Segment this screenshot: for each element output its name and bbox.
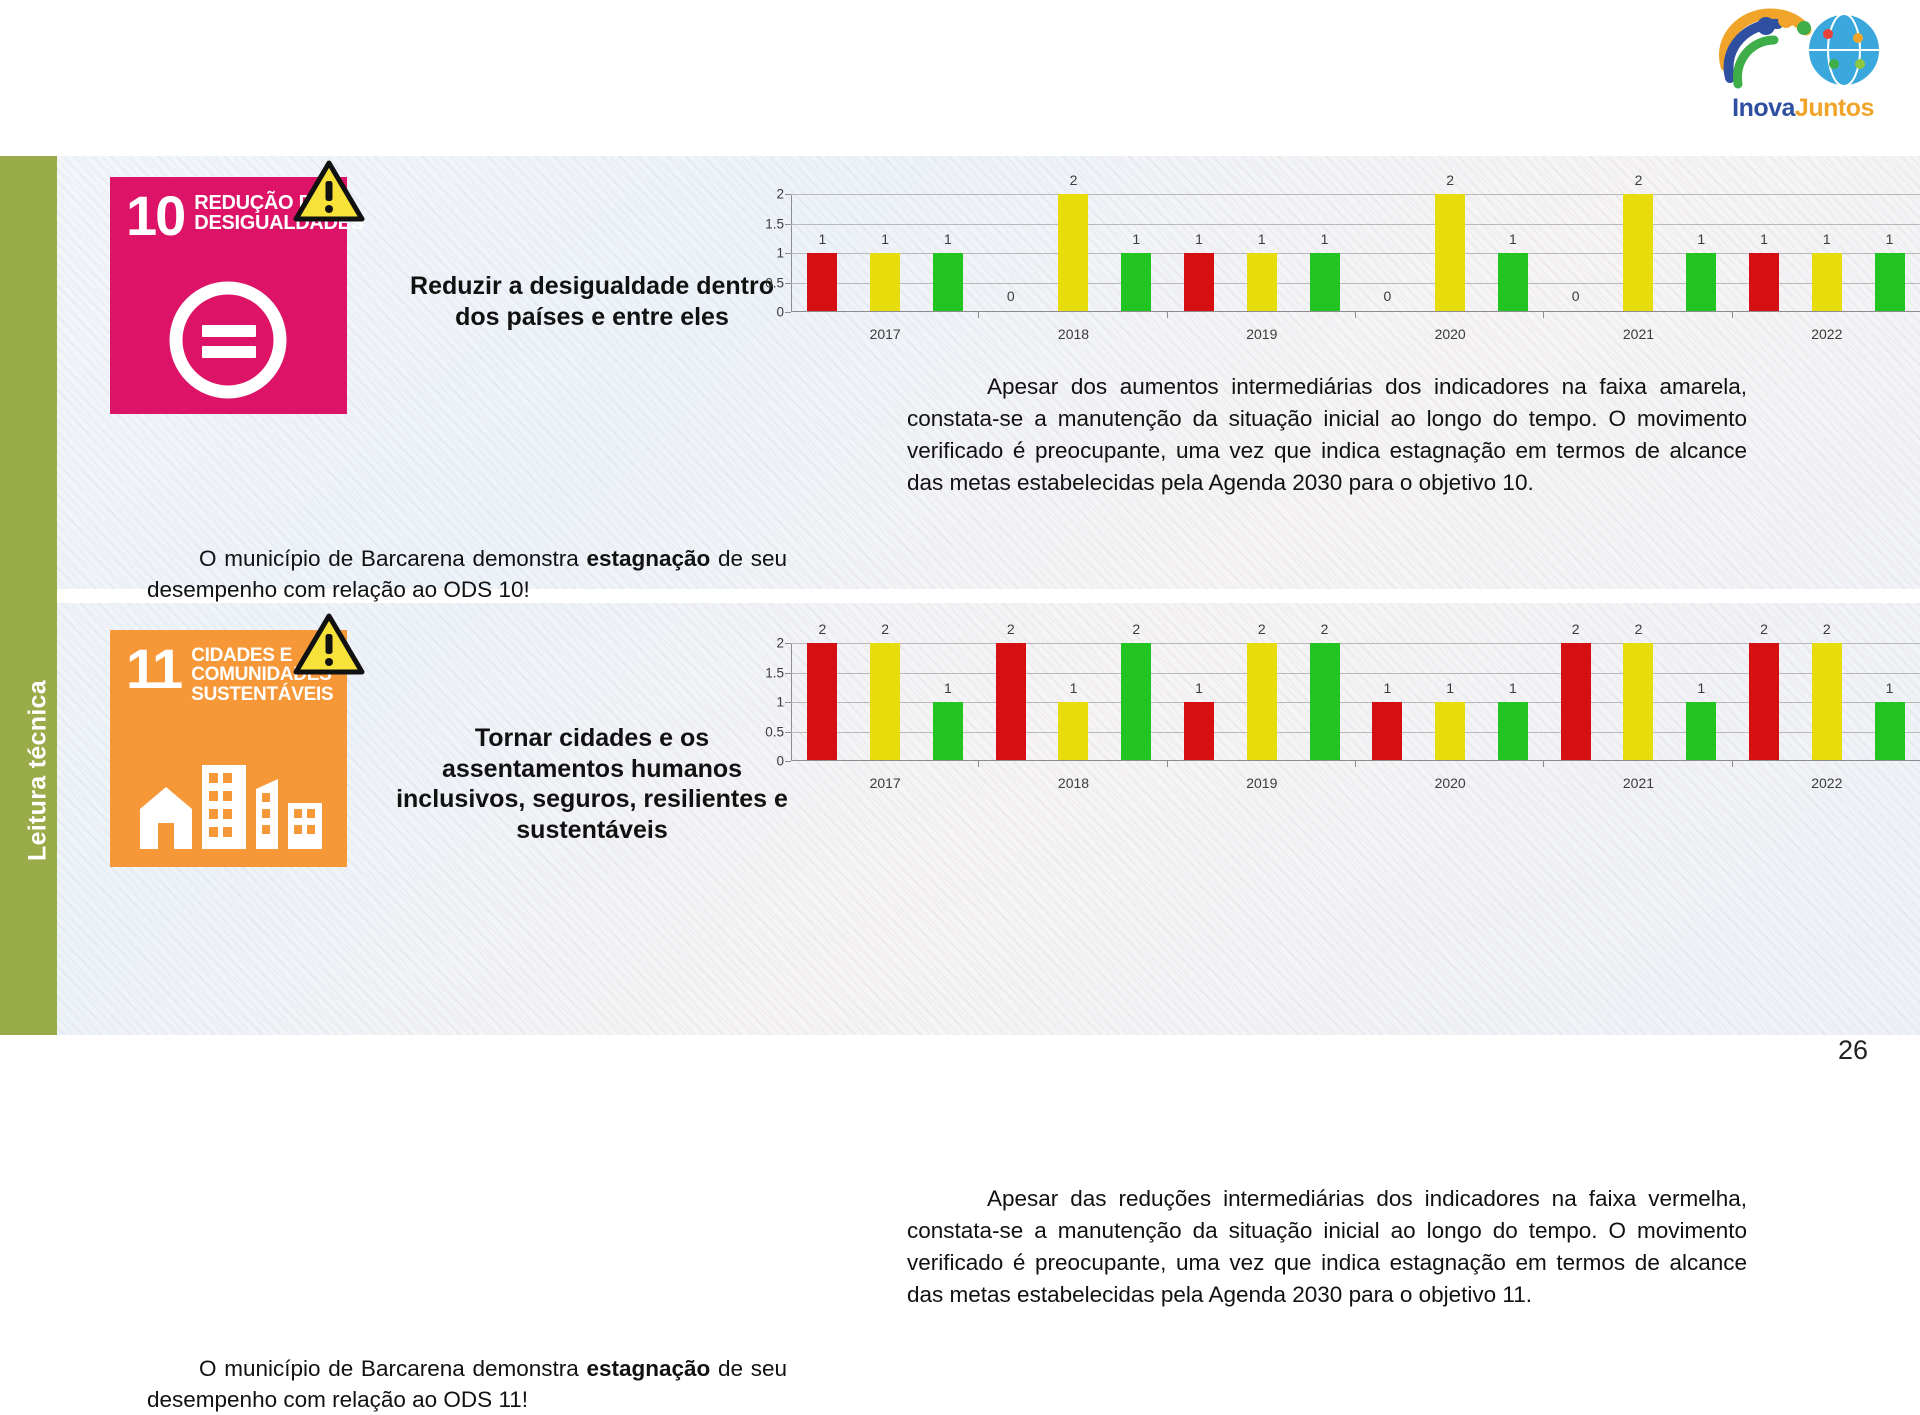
x-axis-tick-label: 2018 (979, 326, 1167, 342)
x-axis-tick-label: 2020 (1356, 775, 1544, 791)
chart-group: 021 (1356, 194, 1544, 312)
chart-bar-value-label: 2 (818, 621, 826, 637)
chart-bar-slot: 1 (1670, 194, 1733, 312)
chart-bar: 2 (1812, 643, 1842, 761)
logo-mark-icon (1708, 4, 1898, 104)
x-axis-group-tick (1732, 312, 1733, 318)
chart-bar-slot: 1 (1293, 194, 1356, 312)
left-para-emphasis: estagnação (586, 546, 710, 571)
chart-bars: 111021111021021111 (791, 194, 1920, 312)
chart-bar-slot: 2 (1544, 643, 1607, 761)
chart-bar-slot: 1 (1733, 194, 1796, 312)
section-ods-11: 11 CIDADES E COMUNIDADES SUSTENTÁVEIS (57, 603, 1920, 1035)
chart-bar: 2 (870, 643, 900, 761)
chart-bar-value-label: 1 (1509, 680, 1517, 696)
inovajuntos-logo: InovaJuntos (1708, 4, 1898, 129)
chart-bar: 1 (1184, 702, 1214, 761)
right-paragraph-ods-10: Apesar dos aumentos intermediárias dos i… (907, 371, 1747, 499)
chart-bar-value-label: 1 (1823, 231, 1831, 247)
chart-bar-value-label: 1 (944, 680, 952, 696)
x-axis (791, 311, 1920, 312)
chart-group: 221 (1544, 643, 1732, 761)
chart-bar-value-label: 2 (1760, 621, 1768, 637)
chart-bar-value-label: 1 (1070, 680, 1078, 696)
y-axis-tick-mark (785, 761, 791, 762)
chart-bar: 2 (1121, 643, 1151, 761)
chart-bar-slot: 1 (791, 194, 854, 312)
x-axis (791, 760, 1920, 761)
chart-bar-value-label: 1 (1195, 680, 1203, 696)
chart-bar-value-label: 2 (1007, 621, 1015, 637)
chart-bar-value-label: 1 (1321, 231, 1329, 247)
chart-bar: 1 (1498, 702, 1528, 761)
bar-chart-ods-10: 00.511.521110211110210211112017201820192… (717, 170, 1920, 350)
chart-plot-area: 00.511.52111021111021021111 (791, 194, 1920, 312)
logo-wordmark: InovaJuntos (1708, 94, 1898, 123)
chart-group: 111 (1168, 194, 1356, 312)
footer-white-band (0, 1035, 1920, 1080)
x-axis-tick-label: 2017 (791, 775, 979, 791)
chart-bar-value-label: 2 (1635, 621, 1643, 637)
chart-bar: 1 (1247, 253, 1277, 312)
chart-bar-slot: 0 (1544, 194, 1607, 312)
right-para-text: Apesar dos aumentos intermediárias dos i… (907, 374, 1747, 495)
chart-bar: 1 (1310, 253, 1340, 312)
chart-bar: 1 (1749, 253, 1779, 312)
chart-bar: 2 (1310, 643, 1340, 761)
y-axis-tick-mark (785, 312, 791, 313)
x-axis-group-tick (978, 312, 979, 318)
chart-bar-value-label: 2 (1572, 621, 1580, 637)
chart-bar-slot: 2 (1795, 643, 1858, 761)
chart-bar-value-label: 1 (1195, 231, 1203, 247)
chart-bar-slot: 2 (1230, 643, 1293, 761)
chart-bar: 2 (1749, 643, 1779, 761)
warning-triangle-icon (293, 612, 365, 683)
x-axis-tick-label: 2017 (791, 326, 979, 342)
logo-juntos-text: Juntos (1795, 94, 1874, 122)
chart-bar-value-label: 1 (881, 231, 889, 247)
chart-group: 111 (1733, 194, 1920, 312)
y-axis-tick-label: 0.5 (765, 275, 784, 290)
x-axis-group-tick (1355, 312, 1356, 318)
chart-bar-slot: 1 (1482, 643, 1545, 761)
chart-bar: 2 (1247, 643, 1277, 761)
chart-bar-value-label: 2 (1070, 172, 1078, 188)
chart-plot-area: 00.511.52221212122111221221 (791, 643, 1920, 761)
chart-bar-slot: 2 (1293, 643, 1356, 761)
city-buildings-icon (110, 731, 347, 859)
chart-bar-value-label: 1 (1258, 231, 1266, 247)
chart-bar-slot: 2 (1042, 194, 1105, 312)
chart-bar: 1 (1435, 702, 1465, 761)
chart-bar: 2 (1058, 194, 1088, 312)
chart-group: 021 (1544, 194, 1732, 312)
chart-bar: 1 (933, 253, 963, 312)
chart-bar-slot: 2 (854, 643, 917, 761)
chart-bar-slot: 1 (1105, 194, 1168, 312)
chart-bar-slot: 1 (1670, 643, 1733, 761)
x-axis-tick-label: 2020 (1356, 326, 1544, 342)
chart-bar-slot: 1 (1858, 194, 1920, 312)
x-axis-tick-label: 2019 (1168, 326, 1356, 342)
chart-bar-value-label: 2 (881, 621, 889, 637)
warning-triangle-icon (293, 159, 365, 230)
x-axis-tick-label: 2021 (1544, 326, 1732, 342)
chart-bar-slot: 2 (1733, 643, 1796, 761)
chart-group: 122 (1168, 643, 1356, 761)
chart-bar-value-label: 2 (1258, 621, 1266, 637)
chart-bar-slot: 1 (1419, 643, 1482, 761)
chart-bar-slot: 1 (917, 643, 980, 761)
chart-group: 021 (979, 194, 1167, 312)
chart-bar-value-label: 0 (1007, 288, 1015, 304)
left-para-pre: O município de Barcarena demonstra (199, 546, 586, 571)
x-axis-group-tick (1167, 312, 1168, 318)
logo-inova-text: Inova (1732, 94, 1795, 122)
y-axis-tick-label: 2 (776, 636, 784, 651)
chart-bar: 2 (996, 643, 1026, 761)
chart-bar-slot: 1 (1168, 194, 1231, 312)
header-white-band (0, 0, 1920, 156)
left-para-pre: O município de Barcarena demonstra (199, 1356, 586, 1381)
chart-bar-slot: 1 (1230, 194, 1293, 312)
x-axis-labels: 201720182019202020212022 (791, 775, 1920, 791)
chart-bar: 1 (1058, 702, 1088, 761)
chart-bar-slot: 1 (854, 194, 917, 312)
chart-bar-value-label: 0 (1572, 288, 1580, 304)
right-paragraph-ods-11: Apesar das reduções intermediárias dos i… (907, 1183, 1747, 1311)
sdg-number-11: 11 (126, 646, 181, 692)
left-paragraph-ods-10: O município de Barcarena demonstra estag… (147, 543, 787, 605)
chart-bar-slot: 2 (1607, 643, 1670, 761)
chart-bar: 1 (1686, 702, 1716, 761)
chart-bar-value-label: 1 (1446, 680, 1454, 696)
chart-bar-value-label: 1 (1886, 231, 1894, 247)
chart-bar: 2 (1623, 194, 1653, 312)
sidebar-label: Leitura técnica (24, 661, 53, 881)
x-axis-tick-label: 2022 (1733, 775, 1920, 791)
chart-bar-slot: 2 (1105, 643, 1168, 761)
y-axis-tick-label: 2 (776, 187, 784, 202)
chart-bar-slot: 1 (1482, 194, 1545, 312)
x-axis-group-tick (1543, 312, 1544, 318)
chart-bar-value-label: 1 (944, 231, 952, 247)
chart-bar: 1 (1875, 253, 1905, 312)
x-axis-group-tick (1732, 761, 1733, 767)
chart-bar: 1 (1875, 702, 1905, 761)
chart-bar-slot: 1 (1356, 643, 1419, 761)
chart-bar-slot: 1 (917, 194, 980, 312)
chart-bar: 2 (807, 643, 837, 761)
chart-bar-value-label: 1 (1132, 231, 1140, 247)
chart-bar-value-label: 2 (1446, 172, 1454, 188)
y-axis-tick-label: 1.5 (765, 665, 784, 680)
x-axis-tick-label: 2019 (1168, 775, 1356, 791)
x-axis-group-tick (1167, 761, 1168, 767)
chart-bar-value-label: 1 (1697, 231, 1705, 247)
chart-bar: 1 (807, 253, 837, 312)
chart-bar-slot: 2 (1419, 194, 1482, 312)
chart-bar: 1 (1184, 253, 1214, 312)
chart-bar-slot: 2 (791, 643, 854, 761)
chart-bar-slot: 1 (1168, 643, 1231, 761)
chart-bar-value-label: 2 (1823, 621, 1831, 637)
chart-bar-slot: 1 (1042, 643, 1105, 761)
chart-bar: 1 (933, 702, 963, 761)
chart-bar-value-label: 2 (1321, 621, 1329, 637)
chart-bar-value-label: 2 (1635, 172, 1643, 188)
x-axis-tick-label: 2021 (1544, 775, 1732, 791)
left-sidebar: Leitura técnica (0, 156, 57, 1035)
chart-bar: 1 (1812, 253, 1842, 312)
chart-bar-value-label: 0 (1383, 288, 1391, 304)
chart-bar-slot: 2 (979, 643, 1042, 761)
chart-bar-slot: 1 (1795, 194, 1858, 312)
chart-bar-value-label: 1 (1509, 231, 1517, 247)
equals-sign-icon (110, 278, 347, 406)
sdg-title-line3: SUSTENTÁVEIS (191, 685, 333, 704)
x-axis-tick-label: 2018 (979, 775, 1167, 791)
chart-group: 111 (791, 194, 979, 312)
x-axis-group-tick (978, 761, 979, 767)
y-axis-tick-label: 1 (776, 246, 784, 261)
chart-bar-slot: 0 (1356, 194, 1419, 312)
chart-bar-value-label: 1 (818, 231, 826, 247)
bar-chart-ods-11: 00.511.522212121221112212212017201820192… (717, 619, 1920, 799)
x-axis-group-tick (1543, 761, 1544, 767)
x-axis-group-tick (1355, 761, 1356, 767)
chart-bar: 1 (870, 253, 900, 312)
sdg-number-10: 10 (126, 193, 184, 239)
left-para-emphasis: estagnação (586, 1356, 710, 1381)
left-paragraph-ods-11: O município de Barcarena demonstra estag… (147, 1353, 787, 1415)
chart-bar: 1 (1686, 253, 1716, 312)
chart-bar: 1 (1498, 253, 1528, 312)
chart-bar: 2 (1561, 643, 1591, 761)
chart-bar: 1 (1372, 702, 1402, 761)
chart-bar-value-label: 1 (1697, 680, 1705, 696)
chart-group: 212 (979, 643, 1167, 761)
chart-bar: 2 (1435, 194, 1465, 312)
y-axis-tick-label: 1 (776, 695, 784, 710)
page-number: 26 (1838, 1035, 1868, 1066)
chart-group: 221 (791, 643, 979, 761)
chart-bar-slot: 1 (1858, 643, 1920, 761)
chart-group: 221 (1733, 643, 1920, 761)
y-axis-tick-label: 0 (776, 754, 784, 769)
chart-bar-slot: 2 (1607, 194, 1670, 312)
right-para-text: Apesar das reduções intermediárias dos i… (907, 1186, 1747, 1307)
chart-group: 111 (1356, 643, 1544, 761)
x-axis-labels: 201720182019202020212022 (791, 326, 1920, 342)
x-axis-tick-label: 2022 (1733, 326, 1920, 342)
y-axis-tick-label: 0.5 (765, 724, 784, 739)
chart-bar-slot: 0 (979, 194, 1042, 312)
chart-bar-value-label: 1 (1886, 680, 1894, 696)
chart-bar-value-label: 1 (1760, 231, 1768, 247)
section-ods-10: 10 REDUÇÃO DAS DESIGUALDADES Reduzir a d… (57, 156, 1920, 589)
chart-bar-value-label: 1 (1383, 680, 1391, 696)
chart-bar: 2 (1623, 643, 1653, 761)
chart-bar-value-label: 2 (1132, 621, 1140, 637)
chart-bars: 221212122111221221 (791, 643, 1920, 761)
y-axis-tick-label: 0 (776, 305, 784, 320)
y-axis-tick-label: 1.5 (765, 216, 784, 231)
chart-bar: 1 (1121, 253, 1151, 312)
